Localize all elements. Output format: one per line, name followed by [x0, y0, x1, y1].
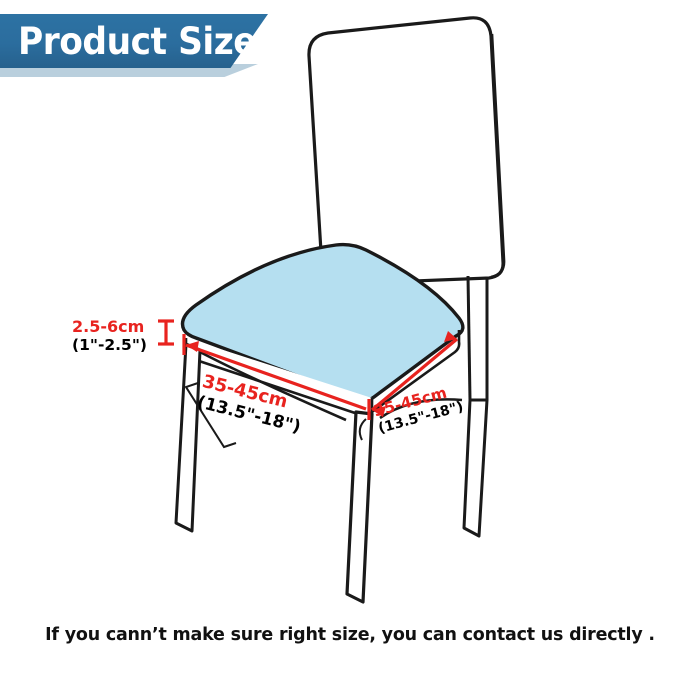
- contact-caption: If you cann’t make sure right size, you …: [11, 624, 690, 645]
- chair-leg-rear-right: [464, 400, 487, 536]
- chair-leg-front-left: [176, 344, 200, 531]
- seat-thickness-label: 2.5-6cm (1"-2.5"): [72, 318, 147, 354]
- seat-thickness-imperial: (1"-2.5"): [72, 337, 147, 354]
- chair-leg-front-center: [347, 412, 372, 602]
- chair-back-post-right: [468, 276, 470, 400]
- seat-thickness-marker: [158, 321, 174, 344]
- product-size-infographic: Product Size: [0, 0, 700, 700]
- seat-thickness-metric: 2.5-6cm: [72, 318, 147, 336]
